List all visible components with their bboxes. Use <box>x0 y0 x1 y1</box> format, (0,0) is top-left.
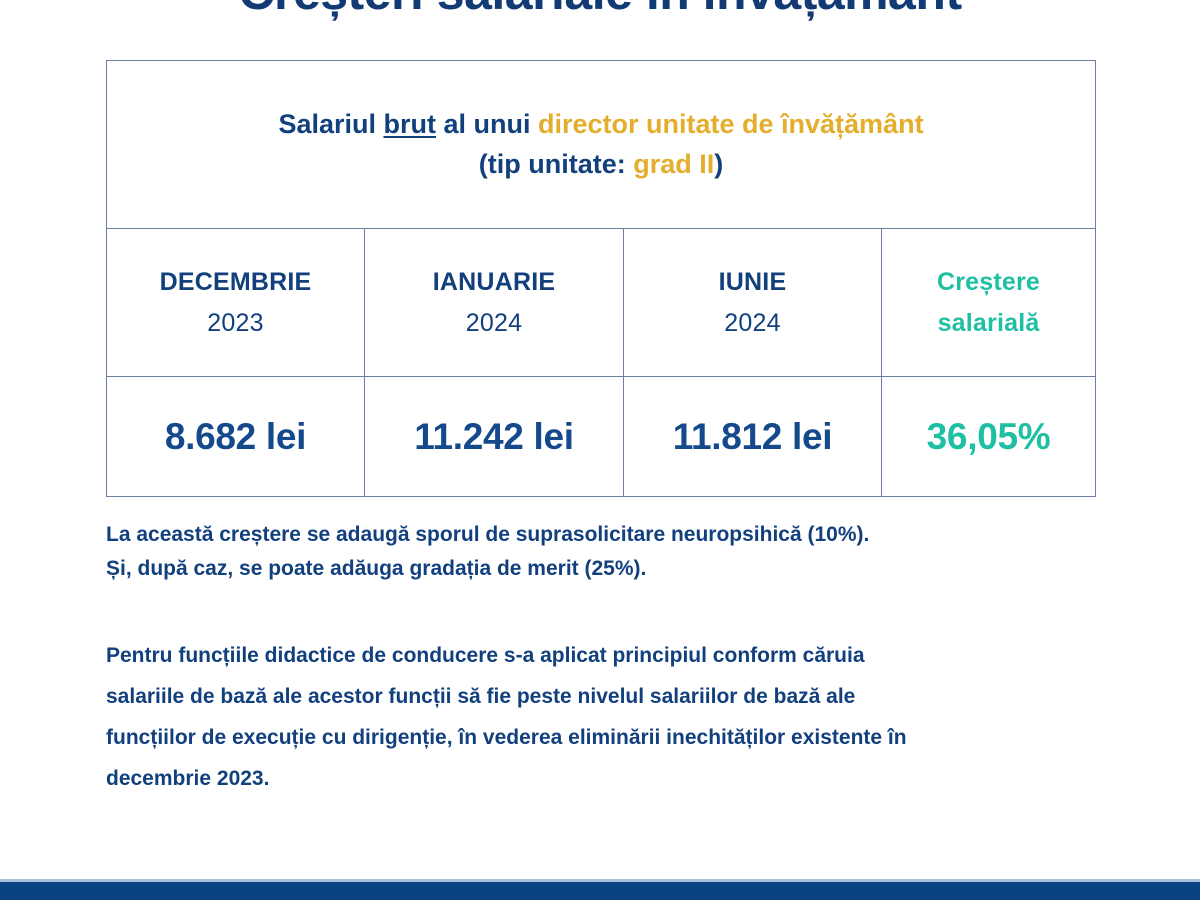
value-cell-ianuarie: 11.242 lei <box>365 377 624 497</box>
value-cell-crestere: 36,05% <box>882 377 1096 497</box>
caption-text-closeparen: ) <box>714 149 723 179</box>
paragraph-line-3: funcțiilor de execuție cu dirigenție, în… <box>106 718 1100 759</box>
caption-line-2: (tip unitate: grad II) <box>121 145 1081 184</box>
table-value-row: 8.682 lei 11.242 lei 11.812 lei 36,05% <box>107 377 1096 497</box>
slide-root: Creșteri salariale în învățământ Salariu… <box>0 0 1200 900</box>
value-ianuarie: 11.242 lei <box>365 416 623 458</box>
caption-text-alunui: al unui <box>436 109 538 139</box>
note-line-1-bold: sporul de suprasolicitare neuropsihică (… <box>415 523 869 546</box>
header-month-label: DECEMBRIE <box>107 262 364 303</box>
table-caption-row: Salariul brut al unui director unitate d… <box>107 61 1096 229</box>
notes-block: La această creștere se adaugă sporul de … <box>106 518 1136 586</box>
header-iunie: IUNIE 2024 <box>624 262 881 343</box>
header-month-label: IANUARIE <box>365 262 623 303</box>
value-cell-iunie: 11.812 lei <box>624 377 882 497</box>
header-year-label: 2024 <box>624 303 881 344</box>
header-year-label: 2023 <box>107 303 364 344</box>
header-ianuarie: IANUARIE 2024 <box>365 262 623 343</box>
paragraph-line-2: salariile de bază ale acestor funcții să… <box>106 677 1100 718</box>
page-title: Creșteri salariale în învățământ <box>0 0 1200 22</box>
header-cell-ianuarie: IANUARIE 2024 <box>365 229 624 377</box>
note-line-1-plain: La această creștere se adaugă <box>106 523 415 546</box>
header-month-label: IUNIE <box>624 262 881 303</box>
caption-text-director: director unitate de învățământ <box>538 109 924 139</box>
note-line-1: La această creștere se adaugă sporul de … <box>106 518 1136 552</box>
value-decembrie: 8.682 lei <box>107 416 364 458</box>
note-line-2-plain: Și, după caz, se poate adăuga <box>106 557 409 580</box>
header-cell-crestere: Creștere salarială <box>882 229 1096 377</box>
header-crestere-line2: salarială <box>882 303 1095 344</box>
value-iunie: 11.812 lei <box>624 416 881 458</box>
table-header-row: DECEMBRIE 2023 IANUARIE 2024 IUNIE 2024 <box>107 229 1096 377</box>
paragraph-line-4: decembrie 2023. <box>106 759 1100 800</box>
header-crestere-salariala: Creștere salarială <box>882 262 1095 343</box>
salary-table: Salariul brut al unui director unitate d… <box>106 60 1096 497</box>
explanatory-paragraph: Pentru funcțiile didactice de conducere … <box>106 636 1100 800</box>
header-decembrie: DECEMBRIE 2023 <box>107 262 364 343</box>
value-cell-decembrie: 8.682 lei <box>107 377 365 497</box>
caption-text-brut: brut <box>383 109 435 139</box>
header-crestere-line1: Creștere <box>937 268 1040 296</box>
note-line-2-bold: gradația de merit (25%). <box>409 557 646 580</box>
footer-bar <box>0 882 1200 900</box>
header-cell-iunie: IUNIE 2024 <box>624 229 882 377</box>
table-caption-cell: Salariul brut al unui director unitate d… <box>107 61 1096 229</box>
caption-text-tipunitate: (tip unitate: <box>479 149 633 179</box>
caption-text-gradii: grad II <box>633 149 714 179</box>
caption-line-1: Salariul brut al unui director unitate d… <box>121 105 1081 144</box>
value-crestere-salariala: 36,05% <box>882 416 1095 458</box>
header-year-label: 2024 <box>365 303 623 344</box>
paragraph-line-1: Pentru funcțiile didactice de conducere … <box>106 636 1100 677</box>
note-line-2: Și, după caz, se poate adăuga gradația d… <box>106 552 1136 586</box>
header-cell-decembrie: DECEMBRIE 2023 <box>107 229 365 377</box>
caption-text-salariul: Salariul <box>278 109 383 139</box>
